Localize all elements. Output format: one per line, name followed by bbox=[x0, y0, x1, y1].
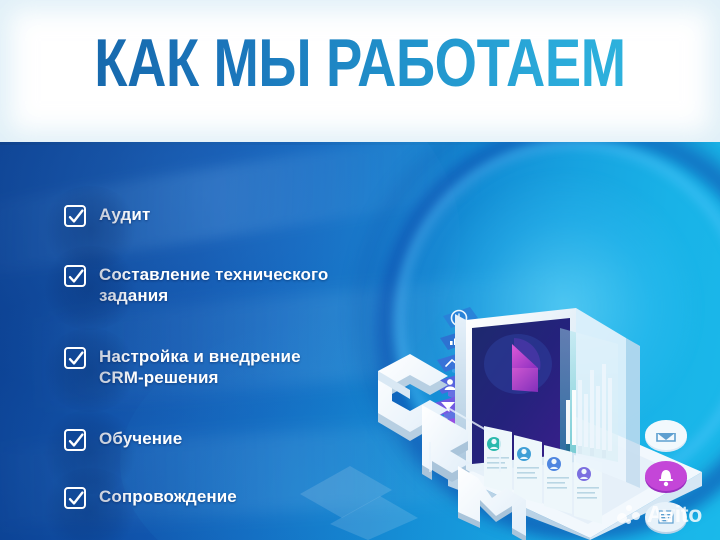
mail-icon-badge bbox=[645, 420, 687, 452]
contact-card bbox=[514, 435, 542, 504]
checkbox-checked-icon[interactable] bbox=[64, 265, 86, 287]
floor-plates bbox=[300, 466, 418, 540]
checklist-item-label: Составление технического задания bbox=[99, 264, 328, 306]
crm-letter-c bbox=[378, 354, 448, 441]
funnel-icon-chip bbox=[431, 396, 465, 416]
crm-letter-m bbox=[458, 466, 526, 540]
checkbox-checked-icon[interactable] bbox=[64, 429, 86, 451]
contact-card bbox=[574, 455, 602, 524]
main-panel: Аудит Составление технического задания Н… bbox=[0, 142, 720, 540]
item-glow bbox=[42, 186, 138, 270]
checklist-item-label: Сопровождение bbox=[99, 486, 237, 507]
checklist-item-label: Настройка и внедрение CRM-решения bbox=[99, 346, 301, 388]
poster-root: КАК МЫ РАБОТАЕМ bbox=[0, 0, 720, 540]
avito-dots-logo bbox=[617, 504, 641, 526]
contact-card bbox=[484, 426, 512, 494]
checkbox-checked-icon[interactable] bbox=[64, 347, 86, 369]
checklist-item-1[interactable]: Составление технического задания bbox=[64, 264, 328, 306]
item-glow bbox=[42, 410, 138, 494]
bell-icon-badge bbox=[645, 461, 687, 493]
avito-watermark: Avito bbox=[617, 503, 702, 526]
checklist-item-3[interactable]: Обучение bbox=[64, 428, 182, 451]
glow-core bbox=[430, 172, 700, 442]
checklist-item-4[interactable]: Сопровождение bbox=[64, 486, 237, 509]
panel-top-divider bbox=[0, 142, 720, 145]
avito-wordmark: Avito bbox=[647, 503, 702, 526]
header-band: КАК МЫ РАБОТАЕМ bbox=[0, 0, 720, 142]
contact-cards bbox=[484, 426, 602, 524]
checklist-item-0[interactable]: Аудит bbox=[64, 204, 150, 227]
cart-icon-chip bbox=[428, 418, 462, 438]
page-title: КАК МЫ РАБОТАЕМ bbox=[72, 28, 648, 98]
checklist-item-label: Аудит bbox=[99, 204, 150, 225]
checkbox-checked-icon[interactable] bbox=[64, 487, 86, 509]
checklist-item-label: Обучение bbox=[99, 428, 182, 449]
crm-letter-r bbox=[422, 405, 470, 482]
contact-card bbox=[544, 445, 572, 514]
checklist-item-2[interactable]: Настройка и внедрение CRM-решения bbox=[64, 346, 301, 388]
checkbox-checked-icon[interactable] bbox=[64, 205, 86, 227]
